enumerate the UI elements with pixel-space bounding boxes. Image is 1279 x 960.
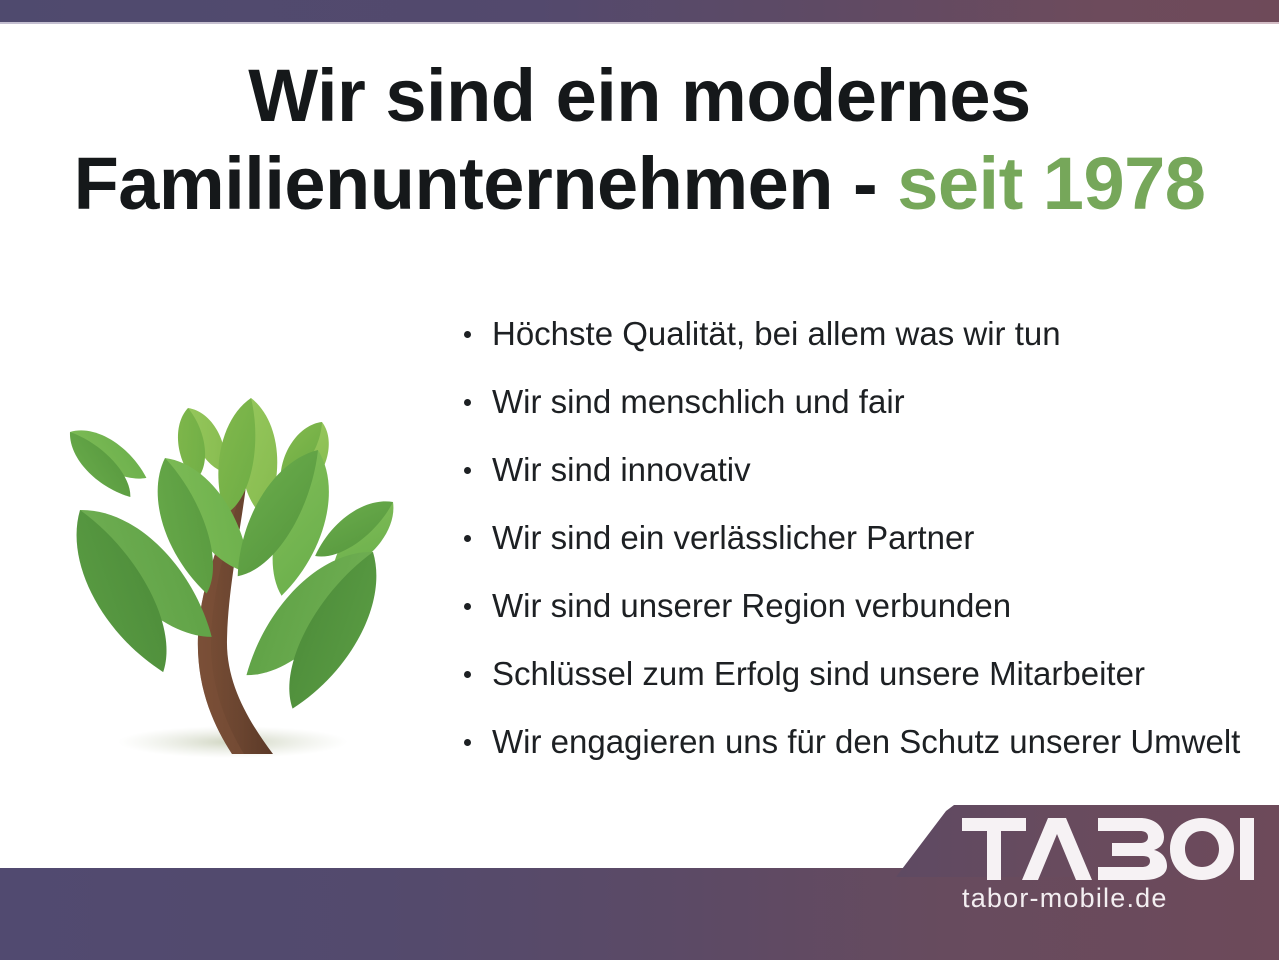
value-bullet-list: Höchste Qualität, bei allem was wir tun … [456, 300, 1266, 776]
tree-leaf [58, 416, 152, 504]
list-item-label: Höchste Qualität, bei allem was wir tun [492, 315, 1061, 352]
list-item-label: Wir sind ein verlässlicher Partner [492, 519, 974, 556]
list-item: Wir sind unserer Region verbunden [456, 572, 1266, 640]
headline-line-2: Familienunternehmen - seit 1978 [0, 140, 1279, 228]
top-accent-bar [0, 0, 1279, 22]
list-item-label: Schlüssel zum Erfolg sind unsere Mitarbe… [492, 655, 1145, 692]
bullet-dot-icon [464, 467, 471, 474]
headline-line-1: Wir sind ein modernes [0, 52, 1279, 140]
bullet-dot-icon [464, 671, 471, 678]
bullet-dot-icon [464, 739, 471, 746]
list-item-label: Wir sind menschlich und fair [492, 383, 905, 420]
list-item: Wir sind ein verlässlicher Partner [456, 504, 1266, 572]
list-item-label: Wir sind innovativ [492, 451, 751, 488]
list-item-label: Wir engagieren uns für den Schutz unsere… [492, 723, 1240, 760]
list-item: Höchste Qualität, bei allem was wir tun [456, 300, 1266, 368]
list-item: Wir sind innovativ [456, 436, 1266, 504]
bullet-dot-icon [464, 603, 471, 610]
list-item: Wir engagieren uns für den Schutz unsere… [456, 708, 1266, 776]
tabor-wordmark-icon [962, 818, 1254, 880]
list-item: Schlüssel zum Erfolg sind unsere Mitarbe… [456, 640, 1266, 708]
top-accent-bar-hairline [0, 22, 1279, 24]
brand-logo: tabor-mobile.de [962, 818, 1262, 914]
bullet-dot-icon [464, 331, 471, 338]
list-item-label: Wir sind unserer Region verbunden [492, 587, 1011, 624]
brand-url-label: tabor-mobile.de [962, 882, 1262, 914]
tree-illustration [18, 330, 448, 770]
bullet-dot-icon [464, 399, 471, 406]
headline-line-2-plain: Familienunternehmen - [74, 142, 898, 225]
slide-canvas: Wir sind ein modernes Familienunternehme… [0, 0, 1279, 960]
bullet-dot-icon [464, 535, 471, 542]
list-item: Wir sind menschlich und fair [456, 368, 1266, 436]
headline-accent-year: seit 1978 [897, 142, 1205, 225]
page-title: Wir sind ein modernes Familienunternehme… [0, 52, 1279, 228]
